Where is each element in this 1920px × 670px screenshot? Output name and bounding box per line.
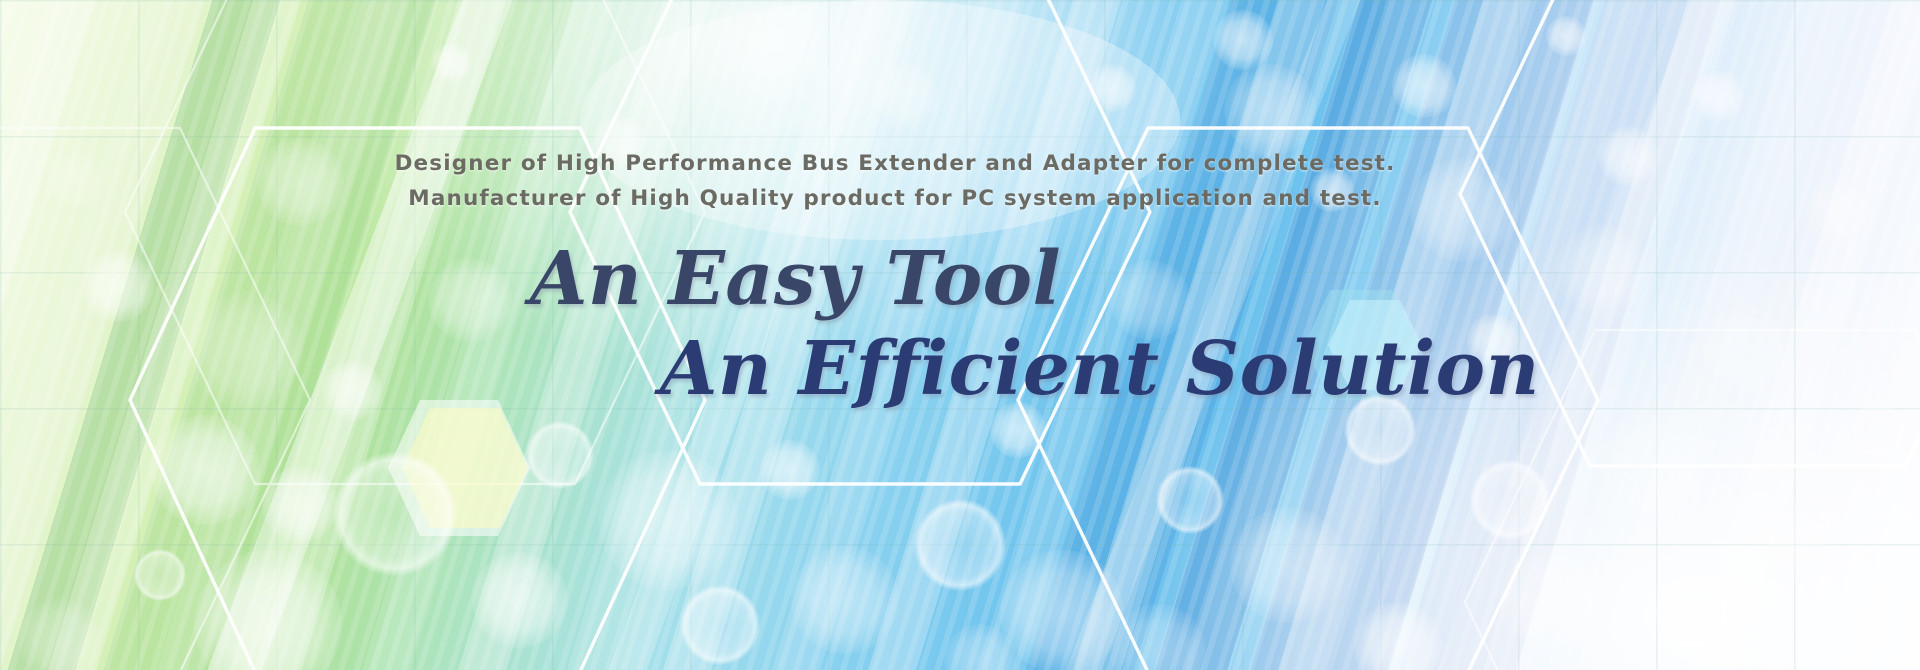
banner-subtitle: Designer of High Performance Bus Extende… <box>0 146 1920 216</box>
subtitle-line-1: Designer of High Performance Bus Extende… <box>0 146 1790 181</box>
subtitle-line-2: Manufacturer of High Quality product for… <box>0 181 1790 216</box>
headline-line-2: An Efficient Solution <box>660 332 1920 406</box>
banner-content: Designer of High Performance Bus Extende… <box>0 0 1920 670</box>
hero-banner: Designer of High Performance Bus Extende… <box>0 0 1920 670</box>
headline-line-1: An Easy Tool <box>530 242 1920 316</box>
banner-headline: An Easy Tool An Efficient Solution <box>0 242 1920 406</box>
